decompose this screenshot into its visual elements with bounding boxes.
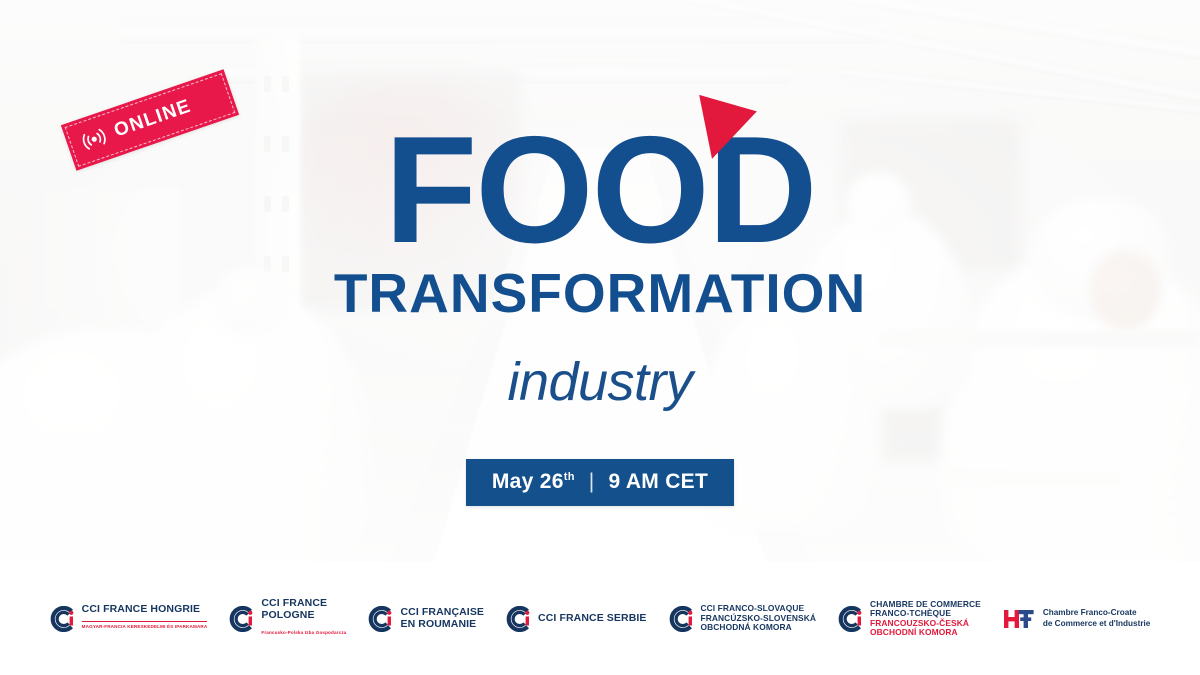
partner-logo-strip: CCI FRANCE HONGRIE MAGYAR-FRANCIA KERESK…: [0, 562, 1200, 675]
cci-logo-mark-icon: [669, 606, 695, 632]
partner-logo-text: CCI FRANCE SERBIE: [538, 613, 646, 625]
partner-name-line: Chambre Franco-Croate: [1043, 608, 1151, 619]
cci-logo-mark-icon: [229, 606, 255, 632]
partner-logo-text: CHAMBRE DE COMMERCE FRANCO-TCHÈQUE FRANC…: [870, 600, 981, 638]
title-line-food: FOOD: [384, 118, 815, 262]
partner-logo-cci-france-serbie: CCI FRANCE SERBIE: [506, 606, 646, 632]
event-banner: ONLINE FOOD TRANSFORMATION industry May …: [0, 0, 1200, 675]
partner-logo-text: CCI FRANCE HONGRIE MAGYAR-FRANCIA KERESK…: [82, 604, 208, 634]
partner-logo-text: Chambre Franco-Croate de Commerce et d'I…: [1043, 608, 1151, 629]
date-badge-row: May 26th | 9 AM CET: [0, 459, 1200, 506]
partner-name-line: POLOGNE: [261, 610, 346, 622]
time-text: 9 AM CET: [608, 470, 708, 494]
partner-logo-text: CCI FRANCE POLOGNE Francusko-Polska Izba…: [261, 598, 346, 639]
partner-name-line: EN ROUMANIE: [400, 619, 484, 631]
partner-name-line: de Commerce et d'Industrie: [1043, 619, 1151, 630]
title-line-industry: industry: [0, 355, 1200, 409]
hf-logo-mark-icon: [1003, 607, 1035, 631]
partner-logo-text: CCI FRANCO-SLOVAQUE FRANCÚZSKO-SLOVENSKÁ…: [701, 604, 817, 632]
cci-logo-mark-icon: [50, 606, 76, 632]
title-lockup: FOOD TRANSFORMATION industry May 26th | …: [0, 118, 1200, 506]
partner-logo-cci-france-hongrie: CCI FRANCE HONGRIE MAGYAR-FRANCIA KERESK…: [50, 604, 208, 634]
food-title-wrap: FOOD: [384, 118, 815, 262]
partner-name-line: CCI FRANCE HONGRIE: [82, 604, 208, 616]
partner-logo-chambre-franco-tcheque: CHAMBRE DE COMMERCE FRANCO-TCHÈQUE FRANC…: [838, 600, 981, 638]
partner-tagline: Francusko-Polska Izba Gospodarcza: [261, 627, 346, 635]
cci-logo-mark-icon: [838, 606, 864, 632]
cci-logo-mark-icon: [368, 606, 394, 632]
date-time-badge: May 26th | 9 AM CET: [466, 459, 734, 506]
partner-logo-text: CCI FRANÇAISE EN ROUMANIE: [400, 607, 484, 631]
partner-tagline: MAGYAR-FRANCIA KERESKEDELMI ÉS IPARKAMAR…: [82, 621, 208, 629]
partner-logo-cci-france-pologne: CCI FRANCE POLOGNE Francusko-Polska Izba…: [229, 598, 346, 639]
cci-logo-mark-icon: [506, 606, 532, 632]
date-suffix: th: [564, 471, 575, 483]
partner-logo-chambre-franco-croate: Chambre Franco-Croate de Commerce et d'I…: [1003, 607, 1151, 631]
partner-logo-cci-francaise-en-roumanie: CCI FRANÇAISE EN ROUMANIE: [368, 606, 484, 632]
partner-name-line: OBCHODNÁ KOMORA: [701, 623, 817, 632]
partner-name-line: CCI FRANÇAISE: [400, 607, 484, 619]
badge-separator: |: [587, 470, 597, 494]
partner-name-line: CCI FRANCE SERBIE: [538, 613, 646, 625]
partner-logo-cci-franco-slovaque: CCI FRANCO-SLOVAQUE FRANCÚZSKO-SLOVENSKÁ…: [669, 604, 817, 632]
partner-name-line: CCI FRANCE: [261, 598, 346, 610]
date-text: May 26th: [492, 470, 575, 494]
partner-name-line: OBCHODNÍ KOMORA: [870, 628, 981, 637]
